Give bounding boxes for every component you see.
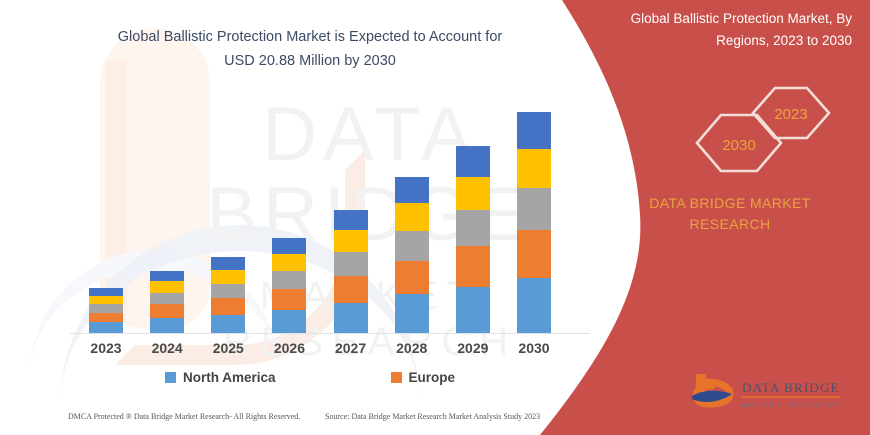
stacked-bar	[456, 146, 490, 333]
bar-segment	[150, 271, 184, 281]
bar-segment	[89, 288, 123, 296]
footer: DMCA Protected ® Data Bridge Market Rese…	[0, 410, 600, 430]
infographic-root: DATA BRIDGE MARKET RESEARCH Global Balli…	[0, 0, 870, 435]
stacked-bar	[334, 210, 368, 333]
chart-baseline	[70, 333, 590, 334]
bar-segment	[395, 203, 429, 231]
bar-segment	[517, 149, 551, 189]
legend-label: North America	[183, 370, 276, 385]
x-axis-label-2024: 2024	[141, 340, 193, 356]
bar-segment	[456, 210, 490, 246]
panel-brand-line-2: RESEARCH	[615, 214, 845, 235]
x-axis-label-2030: 2030	[508, 340, 560, 356]
legend-item-europe[interactable]: Europe	[391, 370, 456, 385]
panel-brand: DATA BRIDGE MARKET RESEARCH	[615, 193, 845, 235]
stacked-bar	[89, 288, 123, 333]
bar-segment	[272, 289, 306, 310]
bar-segment	[334, 276, 368, 303]
bar-segment	[456, 246, 490, 287]
bar-segment	[517, 230, 551, 278]
bar-segment	[150, 318, 184, 333]
bar-segment	[211, 257, 245, 270]
x-axis-label-2028: 2028	[386, 340, 438, 356]
bar-segment	[334, 303, 368, 333]
bar-segment	[517, 188, 551, 230]
legend-swatch-icon	[391, 372, 402, 383]
bar-segment	[395, 294, 429, 333]
bar-segment	[334, 252, 368, 276]
bar-segment	[456, 146, 490, 177]
x-axis-labels: 20232024202520262027202820292030	[80, 340, 560, 356]
logo-subtitle: MARKET RESEARCH	[742, 403, 841, 409]
bar-segment	[211, 284, 245, 298]
bar-segment	[334, 210, 368, 230]
legend-swatch-icon	[165, 372, 176, 383]
bar-column-2027	[325, 95, 377, 333]
x-axis-label-2023: 2023	[80, 340, 132, 356]
bar-column-2025	[202, 95, 254, 333]
stacked-bar	[272, 238, 306, 333]
bar-segment	[272, 271, 306, 289]
stacked-bar	[395, 177, 429, 333]
bar-segment	[395, 177, 429, 203]
bar-segment	[395, 261, 429, 295]
panel-title: Global Ballistic Protection Market, By R…	[600, 8, 852, 52]
bar-segment	[456, 287, 490, 333]
stacked-bar	[211, 257, 245, 333]
bar-segment	[150, 293, 184, 305]
data-bridge-logo: DATA BRIDGE MARKET RESEARCH	[688, 370, 848, 414]
bar-segment	[395, 231, 429, 261]
bar-column-2026	[263, 95, 315, 333]
chart-title-line-1: Global Ballistic Protection Market is Ex…	[60, 25, 560, 49]
hexagon-badges: 2023 2030	[635, 80, 850, 185]
hexagon-2023-label: 2023	[774, 106, 807, 123]
panel-title-line-1: Global Ballistic Protection Market, By	[600, 8, 852, 30]
chart-title: Global Ballistic Protection Market is Ex…	[60, 25, 560, 73]
x-axis-label-2029: 2029	[447, 340, 499, 356]
bar-segment	[211, 270, 245, 284]
hexagon-2030-label: 2030	[722, 137, 755, 154]
chart-legend: North AmericaEurope	[80, 370, 560, 385]
legend-label: Europe	[409, 370, 456, 385]
bar-segment	[272, 310, 306, 333]
x-axis-label-2027: 2027	[325, 340, 377, 356]
bar-column-2029	[447, 95, 499, 333]
legend-item-north-america[interactable]: North America	[165, 370, 276, 385]
bar-column-2030	[508, 95, 560, 333]
x-axis-label-2026: 2026	[263, 340, 315, 356]
bar-column-2023	[80, 95, 132, 333]
bar-segment	[89, 313, 123, 323]
stacked-bar	[150, 271, 184, 333]
footer-source-text: Source: Data Bridge Market Research Mark…	[325, 412, 540, 421]
footer-dmca-text: DMCA Protected ® Data Bridge Market Rese…	[68, 412, 300, 421]
bar-segment	[272, 238, 306, 254]
chart-title-line-2: USD 20.88 Million by 2030	[60, 49, 560, 73]
bar-segment	[211, 298, 245, 315]
chart-bars	[80, 95, 560, 333]
bar-segment	[272, 254, 306, 271]
x-axis-label-2025: 2025	[202, 340, 254, 356]
bar-column-2028	[386, 95, 438, 333]
logo-mark	[692, 374, 732, 404]
bar-segment	[89, 322, 123, 333]
bar-segment	[89, 304, 123, 313]
stacked-bar	[517, 112, 551, 333]
panel-title-line-2: Regions, 2023 to 2030	[600, 30, 852, 52]
logo-title: DATA BRIDGE	[742, 380, 840, 395]
bar-column-2024	[141, 95, 193, 333]
bar-segment	[150, 304, 184, 317]
panel-brand-line-1: DATA BRIDGE MARKET	[615, 193, 845, 214]
bar-segment	[456, 177, 490, 210]
bar-segment	[334, 230, 368, 252]
bar-segment	[517, 112, 551, 149]
bar-segment	[89, 296, 123, 304]
bar-segment	[211, 315, 245, 333]
bar-segment	[517, 278, 551, 333]
bar-segment	[150, 281, 184, 292]
